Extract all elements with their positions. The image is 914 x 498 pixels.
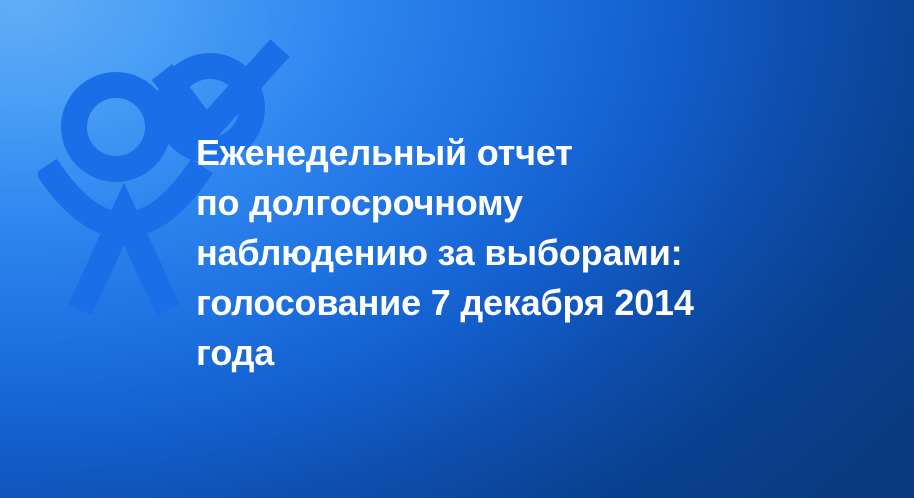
banner-card: Еженедельный отчет по долгосрочному набл… (0, 0, 914, 498)
page-title: Еженедельный отчет по долгосрочному набл… (196, 128, 836, 378)
title-line-4: голосование 7 декабря 2014 (196, 278, 836, 328)
title-line-2: по долгосрочному (196, 178, 836, 228)
arc-icon (46, 166, 202, 225)
title-line-1: Еженедельный отчет (196, 128, 836, 178)
title-line-3: наблюдению за выборами: (196, 228, 836, 278)
ring-icon (74, 85, 158, 169)
title-line-5: года (196, 328, 836, 378)
checkmark-icon (162, 48, 280, 130)
legs-icon (80, 214, 168, 310)
